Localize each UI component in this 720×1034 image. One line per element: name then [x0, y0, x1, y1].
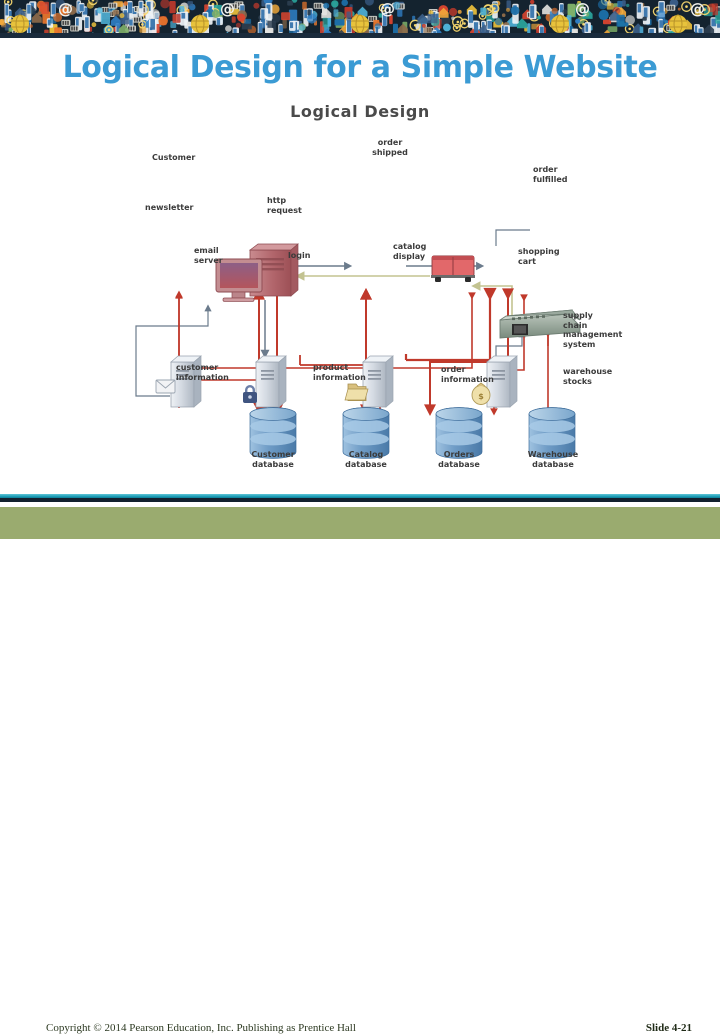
flow-label-http-request: http request — [267, 196, 302, 215]
flow-label-warehouse-stocks: warehouse stocks — [563, 367, 612, 386]
desktop-computer-icon — [216, 244, 298, 301]
node-label-customer-database: Customer database — [243, 450, 303, 469]
server-lock-icon — [243, 356, 286, 407]
decorative-tech-collage-banner: @@@@@ — [0, 0, 720, 33]
node-label-login: login — [288, 251, 310, 261]
slide: @@@@@ Logical Design for a Simple Websit… — [0, 0, 720, 539]
flow-label-order-information: order information — [441, 365, 494, 384]
svg-text:$: $ — [478, 392, 484, 401]
flow-label-order-shipped: order shipped — [355, 138, 425, 157]
diagram-artwork: $ — [0, 118, 720, 483]
footer-slide-number: Slide 4-21 — [646, 1022, 692, 1034]
node-label-email-server: email server — [194, 246, 223, 265]
node-label-catalog-database: Catalog database — [336, 450, 396, 469]
page-title: Logical Design for a Simple Website — [0, 50, 720, 85]
node-label-shopping-cart: shopping cart — [518, 247, 560, 266]
flow-label-product-information: product information — [313, 363, 366, 382]
slide-footer: Copyright © 2014 Pearson Education, Inc.… — [0, 507, 720, 539]
svg-text:@: @ — [58, 0, 73, 18]
node-label-catalog-display: catalog display — [393, 242, 426, 261]
flow-label-supply-chain: supply chain management system — [563, 311, 622, 349]
logical-design-diagram: $ — [0, 118, 720, 483]
banner-white-rule — [0, 38, 720, 40]
collage-artwork: @@@@@ — [0, 0, 720, 33]
svg-text:@: @ — [575, 0, 590, 18]
flow-label-customer-information: customer information — [176, 363, 229, 382]
flow-label-newsletter: newsletter — [145, 203, 193, 213]
node-label-warehouse-database: Warehouse database — [520, 450, 586, 469]
node-label-customer: Customer — [152, 153, 195, 163]
svg-text:@: @ — [220, 0, 235, 18]
delivery-truck-icon — [431, 256, 475, 282]
footer-copyright: Copyright © 2014 Pearson Education, Inc.… — [46, 1022, 356, 1034]
node-label-orders-database: Orders database — [429, 450, 489, 469]
svg-text:@: @ — [380, 0, 395, 18]
svg-text:@: @ — [690, 0, 705, 18]
node-label-order-fulfilled: order fulfilled — [533, 165, 567, 184]
